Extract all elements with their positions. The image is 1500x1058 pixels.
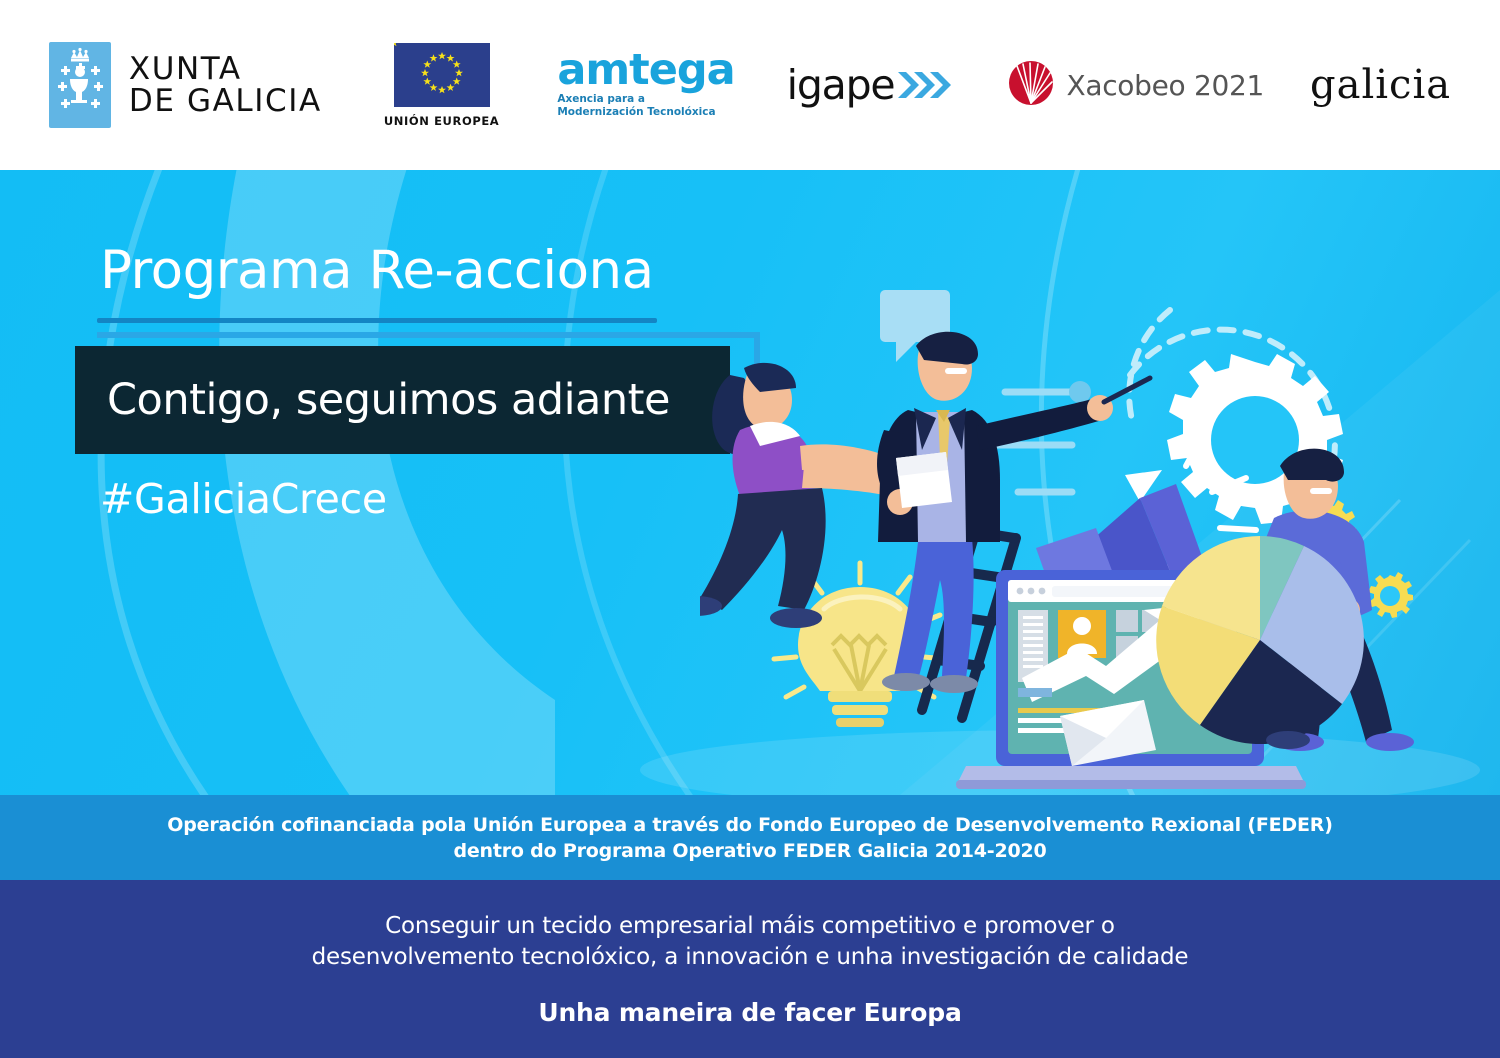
amtega-wordmark: amtega [557,50,734,91]
feder-line-2: dentro do Programa Operativo FEDER Galic… [453,840,1046,862]
hashtag: #GaliciaCrece [100,475,387,523]
scallop-shell-icon [1008,60,1054,111]
european-union-flag-icon [394,43,490,107]
gear-yellow-small-icon [1368,572,1413,618]
xunta-line-1: XUNTA [129,53,322,85]
xacobeo-wordmark: Xacobeo 2021 [1066,69,1264,102]
hero-banner: Programa Re-acciona Contigo, seguimos ad… [0,170,1500,795]
logo-bar: XUNTA DE GALICIA UNIÓN EUROPEA amtega [0,0,1500,170]
hero-illustration [700,280,1490,795]
tagline-box: Contigo, seguimos adiante [75,346,730,454]
title-underline-rule [97,318,657,323]
objective-line-1: Conseguir un tecido empresarial máis com… [385,911,1115,941]
logo-union-europea: UNIÓN EUROPEA [384,43,499,128]
xunta-line-2: DE GALICIA [129,85,322,117]
double-chevron-right-icon [898,70,956,100]
tagline-text: Contigo, seguimos adiante [75,375,670,425]
europa-slogan: Unha maneira de facer Europa [538,998,961,1027]
galicia-coat-of-arms-icon [49,42,111,128]
amtega-tagline-line-1: Axencia para a [557,93,715,106]
navy-objective-block: Conseguir un tecido empresarial máis com… [0,880,1500,1058]
logo-igape: igape [787,65,957,106]
logo-amtega: amtega Axencia para a Modernización Tecn… [557,50,734,119]
feder-band: Operación cofinanciada pola Unión Europe… [0,795,1500,880]
xunta-wordmark: XUNTA DE GALICIA [129,53,322,117]
eu-caption: UNIÓN EUROPEA [384,114,499,128]
logo-xacobeo: Xacobeo 2021 [1008,60,1264,111]
igape-wordmark: igape [787,65,895,106]
page-title: Programa Re-acciona [100,240,654,301]
hero-copy: Programa Re-acciona Contigo, seguimos ad… [0,170,760,795]
feder-line-1: Operación cofinanciada pola Unión Europe… [167,814,1332,836]
logo-galicia: galicia [1310,62,1451,108]
amtega-tagline: Axencia para a Modernización Tecnolóxica [557,93,715,119]
papers-icon [896,452,952,508]
objective-line-2: desenvolvemento tecnolóxico, a innovació… [312,942,1189,972]
amtega-tagline-line-2: Modernización Tecnolóxica [557,106,715,119]
galicia-wordmark: galicia [1310,62,1451,108]
logo-xunta-de-galicia: XUNTA DE GALICIA [49,42,322,128]
